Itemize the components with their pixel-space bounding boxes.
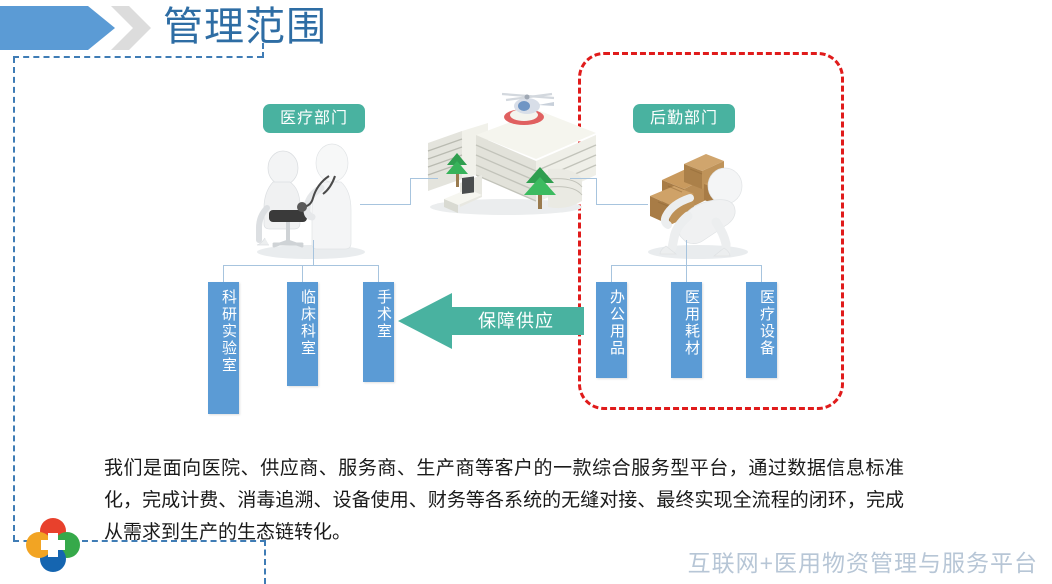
medical-unit-research-lab[interactable]: 科研实验室 [208, 282, 239, 414]
logistics-department-label: 后勤部门 [633, 104, 735, 133]
connector-hospital-medical-top [410, 178, 438, 179]
connector-medical-drop-2 [302, 265, 303, 283]
frame-dash-left [13, 57, 15, 541]
connector-hospital-to-medical [360, 204, 410, 205]
connector-logistics-drop-2 [686, 265, 687, 283]
connector-logistics-trunk [686, 240, 687, 266]
logistics-unit-medical-equipment[interactable]: 医疗设备 [746, 282, 777, 378]
connector-medical-drop-3 [378, 265, 379, 283]
connector-medical-trunk [313, 240, 314, 266]
logistics-unit-medical-consumables[interactable]: 医用耗材 [671, 282, 702, 378]
frame-dash-top [13, 56, 263, 58]
chevron-right-icon [103, 6, 151, 50]
connector-hospital-medical-riser [410, 178, 411, 205]
connector-hospital-logistics-top [570, 178, 597, 179]
left-arrow-icon [398, 291, 584, 351]
footer-brand: 互联网+医用物资管理与服务平台 [688, 544, 1038, 578]
hospital-building-illustration [398, 83, 602, 217]
connector-logistics-drop-3 [761, 265, 762, 283]
connector-medical-bus [223, 265, 379, 266]
page-title: 管理范围 [163, 2, 327, 52]
slide-canvas: 管理范围 医疗部门 后勤部门 [0, 0, 1052, 584]
connector-hospital-to-logistics [596, 204, 648, 205]
logistics-unit-office-supplies[interactable]: 办公用品 [596, 282, 627, 378]
connector-hospital-logistics-riser [596, 178, 597, 205]
box-carrier-illustration [628, 138, 764, 260]
four-petal-cross-logo [24, 516, 82, 574]
doctor-patient-illustration [243, 138, 379, 260]
medical-department-label: 医疗部门 [263, 104, 365, 133]
description-paragraph: 我们是面向医院、供应商、服务商、生产商等客户的一款综合服务型平台，通过数据信息标… [104, 452, 904, 548]
medical-unit-clinical-dept[interactable]: 临床科室 [287, 282, 318, 386]
connector-logistics-drop-1 [611, 265, 612, 283]
medical-unit-operating-room[interactable]: 手术室 [363, 282, 394, 382]
connector-medical-drop-1 [223, 265, 224, 283]
right-arrow-banner-icon [0, 6, 115, 50]
